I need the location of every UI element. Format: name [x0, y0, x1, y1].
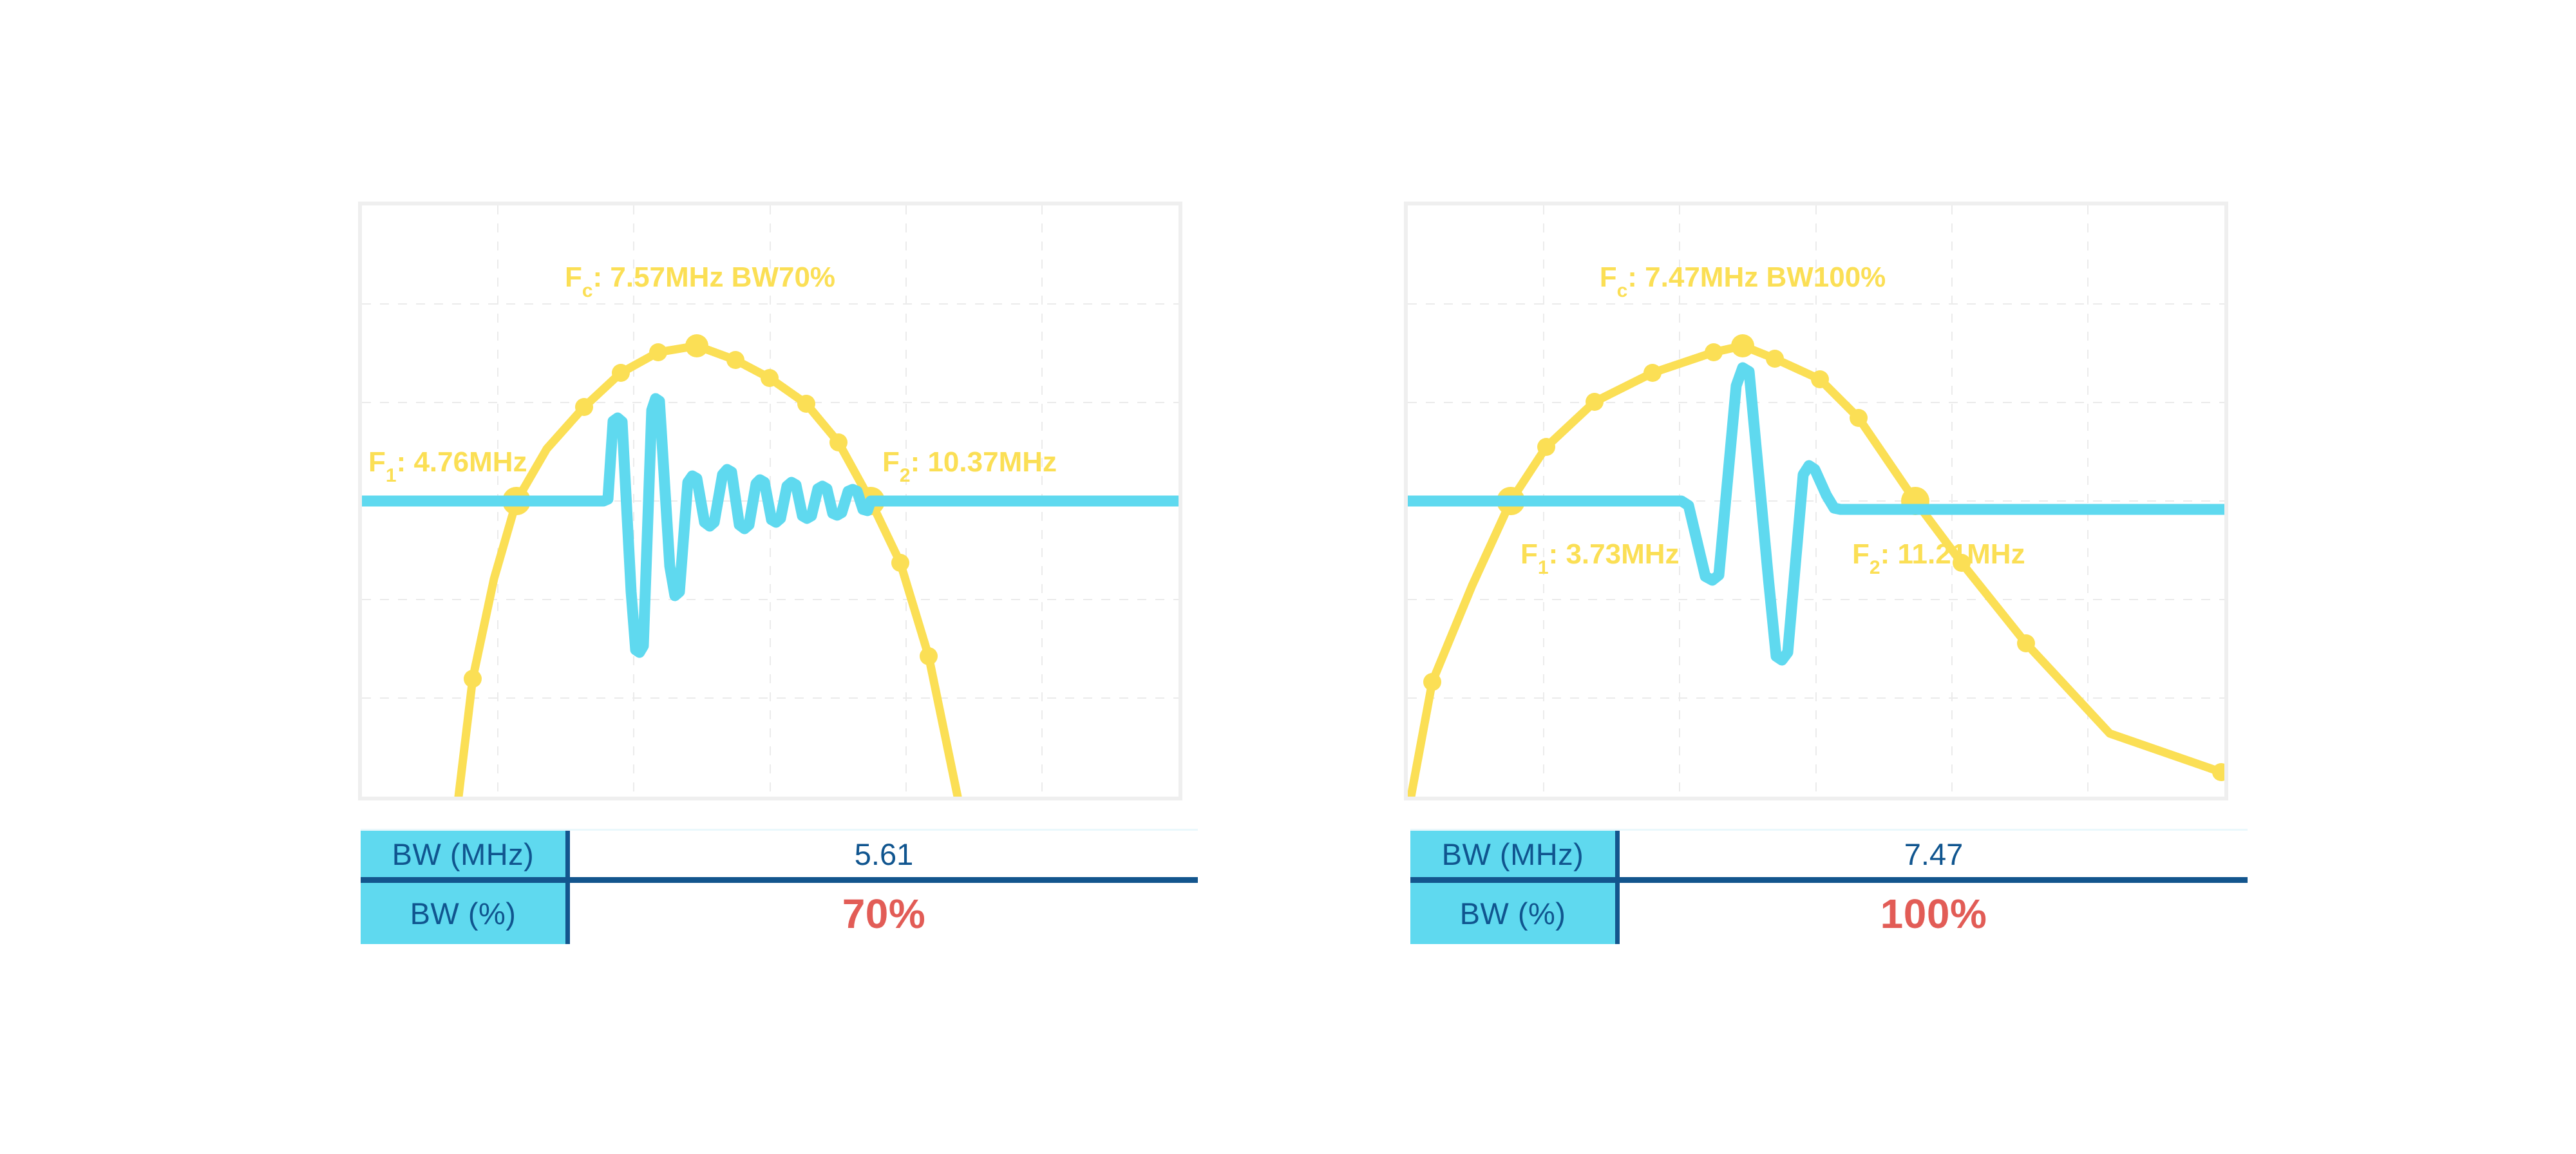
- left-table-divider: [361, 877, 1198, 883]
- left-f1-prefix: F: [368, 446, 386, 478]
- left-f2-prefix: F: [882, 446, 900, 478]
- left-plot-area: Fc: 7.57MHz BW70% F1: 4.76MHz F2: 10.37M…: [362, 205, 1179, 797]
- left-bw-mhz-header: BW (MHz): [361, 831, 570, 877]
- left-spectrum-curve: [459, 346, 958, 797]
- right-bw-table: BW (MHz) 7.47 BW (%) 100%: [1410, 829, 2248, 944]
- left-bw-pct-value: 70%: [570, 883, 1198, 944]
- right-fc-text: : 7.47MHz BW100%: [1627, 261, 1886, 293]
- left-f2-text: : 10.37MHz: [911, 446, 1057, 478]
- left-bw-table: BW (MHz) 5.61 BW (%) 70%: [361, 829, 1198, 944]
- right-bw-pct-header: BW (%): [1410, 883, 1620, 944]
- right-f2-prefix: F: [1852, 538, 1870, 570]
- right-f2-text: : 11.21MHz: [1880, 538, 2025, 570]
- left-f2-label: F2: 10.37MHz: [882, 446, 1057, 486]
- right-chart-svg: Fc: 7.47MHz BW100% F1: 3.73MHz F2: 11.21…: [1408, 205, 2224, 797]
- left-chart-svg: Fc: 7.57MHz BW70% F1: 4.76MHz F2: 10.37M…: [362, 205, 1179, 797]
- left-fc-label: Fc: 7.57MHz BW70%: [565, 261, 835, 301]
- figure-root: Fc: 7.57MHz BW70% F1: 4.76MHz F2: 10.37M…: [0, 0, 2576, 1154]
- left-chart-panel: Fc: 7.57MHz BW70% F1: 4.76MHz F2: 10.37M…: [358, 202, 1182, 800]
- left-f1-label: F1: 4.76MHz: [368, 446, 527, 486]
- right-bw-pct-value: 100%: [1620, 883, 2248, 944]
- left-fc-text: : 7.57MHz BW70%: [593, 261, 836, 293]
- left-f2-sub: 2: [900, 465, 911, 486]
- left-bw-pct-header: BW (%): [361, 883, 570, 944]
- right-f2-label: F2: 11.21MHz: [1852, 538, 2025, 578]
- right-fc-sub: c: [1617, 280, 1628, 301]
- left-f1-sub: 1: [386, 465, 397, 486]
- right-plot-area: Fc: 7.47MHz BW100% F1: 3.73MHz F2: 11.21…: [1408, 205, 2224, 797]
- right-bw-mhz-value: 7.47: [1620, 831, 2248, 877]
- right-bw-pct-row: BW (%) 100%: [1410, 883, 2248, 944]
- right-bw-mhz-row: BW (MHz) 7.47: [1410, 829, 2248, 877]
- right-f1-sub: 1: [1538, 557, 1549, 578]
- left-fc-prefix: F: [565, 261, 582, 293]
- left-fc-sub: c: [582, 280, 593, 301]
- right-fc-prefix: F: [1600, 261, 1617, 293]
- right-f1-text: : 3.73MHz: [1549, 538, 1680, 570]
- left-bw-pct-row: BW (%) 70%: [361, 883, 1198, 944]
- right-fc-label: Fc: 7.47MHz BW100%: [1600, 261, 1886, 301]
- right-f2-sub: 2: [1870, 557, 1880, 578]
- right-table-divider: [1410, 877, 2248, 883]
- left-bw-mhz-value: 5.61: [570, 831, 1198, 877]
- right-f1-prefix: F: [1520, 538, 1538, 570]
- right-chart-panel: Fc: 7.47MHz BW100% F1: 3.73MHz F2: 11.21…: [1404, 202, 2228, 800]
- right-bw-mhz-header: BW (MHz): [1410, 831, 1620, 877]
- right-f1-label: F1: 3.73MHz: [1520, 538, 1680, 578]
- left-f1-text: : 4.76MHz: [397, 446, 527, 478]
- left-bw-mhz-row: BW (MHz) 5.61: [361, 829, 1198, 877]
